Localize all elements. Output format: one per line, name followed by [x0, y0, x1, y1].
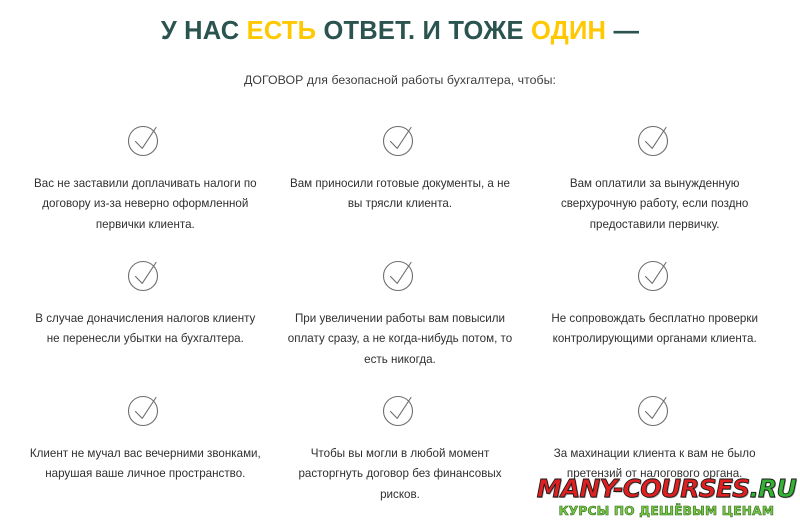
check-circle-icon: [125, 390, 165, 430]
benefit-text: При увеличении работы вам повысили оплат…: [282, 309, 517, 371]
benefit-item: Вас не заставили доплачивать налоги по д…: [18, 120, 273, 255]
title-segment-1: У НАС: [161, 17, 247, 45]
check-circle-icon: [635, 390, 675, 430]
check-circle-icon: [380, 390, 420, 430]
benefit-item: Вам оплатили за вынужденную сверхурочную…: [527, 120, 782, 255]
title-highlight-2: ОДИН: [531, 17, 606, 45]
check-circle-icon: [380, 120, 420, 160]
benefit-item: В случае доначисления налогов клиенту не…: [18, 255, 273, 390]
check-circle-icon: [635, 255, 675, 295]
check-circle-icon: [125, 120, 165, 160]
benefit-item: Клиент не мучал вас вечерними звонками, …: [18, 390, 273, 523]
benefit-text: Клиент не мучал вас вечерними звонками, …: [28, 444, 263, 485]
check-circle-icon: [635, 120, 675, 160]
page-title: У НАС ЕСТЬ ОТВЕТ. И ТОЖЕ ОДИН —: [0, 0, 800, 47]
title-dash: —: [606, 17, 639, 45]
check-circle-icon: [380, 255, 420, 295]
benefit-text: Чтобы вы могли в любой момент расторгнут…: [282, 444, 517, 506]
title-segment-2: ОТВЕТ. И ТОЖЕ: [316, 17, 531, 45]
benefit-text: Вас не заставили доплачивать налоги по д…: [28, 174, 263, 236]
benefit-item: Не сопровождать бесплатно проверки контр…: [527, 255, 782, 390]
benefit-text: Вам оплатили за вынужденную сверхурочную…: [537, 174, 772, 236]
page-root: У НАС ЕСТЬ ОТВЕТ. И ТОЖЕ ОДИН — ДОГОВОР …: [0, 0, 800, 523]
page-subtitle: ДОГОВОР для безопасной работы бухгалтера…: [0, 73, 800, 87]
check-circle-icon: [125, 255, 165, 295]
benefits-grid: Вас не заставили доплачивать налоги по д…: [0, 120, 800, 523]
benefit-item: При увеличении работы вам повысили оплат…: [273, 255, 528, 390]
benefit-text: Не сопровождать бесплатно проверки контр…: [537, 309, 772, 350]
benefit-item: Вам приносили готовые документы, а не вы…: [273, 120, 528, 255]
benefit-text: В случае доначисления налогов клиенту не…: [28, 309, 263, 350]
title-highlight-1: ЕСТЬ: [247, 17, 317, 45]
benefit-item: За махинации клиента к вам не было прете…: [527, 390, 782, 523]
benefit-text: За махинации клиента к вам не было прете…: [537, 444, 772, 485]
benefit-item: Чтобы вы могли в любой момент расторгнут…: [273, 390, 528, 523]
benefit-text: Вам приносили готовые документы, а не вы…: [282, 174, 517, 215]
